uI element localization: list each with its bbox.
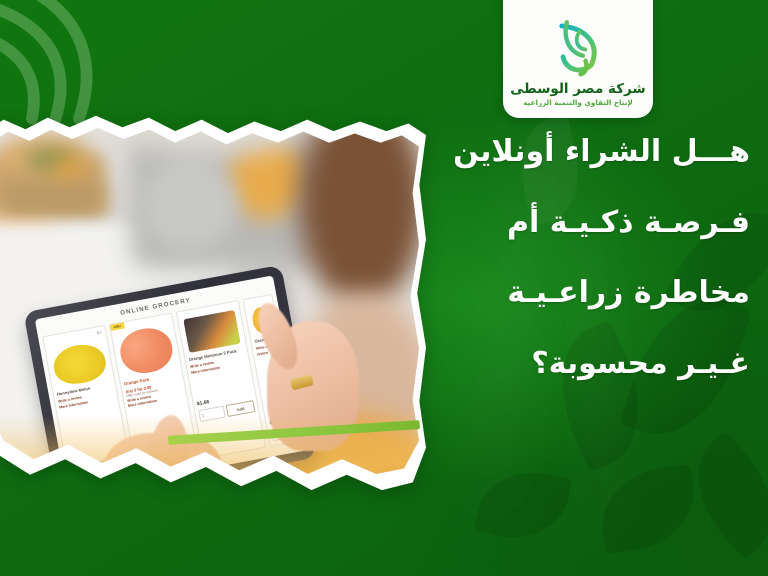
headline-block: هـــل الشراء أونلاين فـرصـة ذكـيـة أم مخ… <box>400 136 750 379</box>
cushion-grey-blob <box>141 159 237 251</box>
brand-logo-card: شركة مصر الوسطى لإنتاج التقاوي والتنمية … <box>503 0 653 118</box>
headline-line-3: مخاطرة زراعـيـة <box>400 277 750 309</box>
leaf-logo-icon <box>547 16 609 78</box>
social-media-poster: ONLINE GROCERY 5+ Honeydew Melon Write a… <box>0 0 768 576</box>
headline-line-4: غـيـر محسوبة؟ <box>400 348 750 380</box>
logo-company-name: شركة مصر الوسطى <box>510 82 645 97</box>
product-age-tag: 5+ <box>96 330 101 336</box>
headline-line-2: فـرصـة ذكـيـة أم <box>400 207 750 239</box>
headline-line-1: هـــل الشراء أونلاين <box>400 136 750 168</box>
basket-weave-blob <box>1 181 105 219</box>
product-image-honeydew <box>51 341 109 388</box>
orange-fruit-blob <box>55 159 83 183</box>
product-image-orange-pack <box>117 324 176 377</box>
logo-tagline: لإنتاج التقاوي والتنمية الزراعية <box>523 99 632 108</box>
offer-badge: offer <box>110 322 124 330</box>
product-image-fruit-tray <box>183 310 240 353</box>
